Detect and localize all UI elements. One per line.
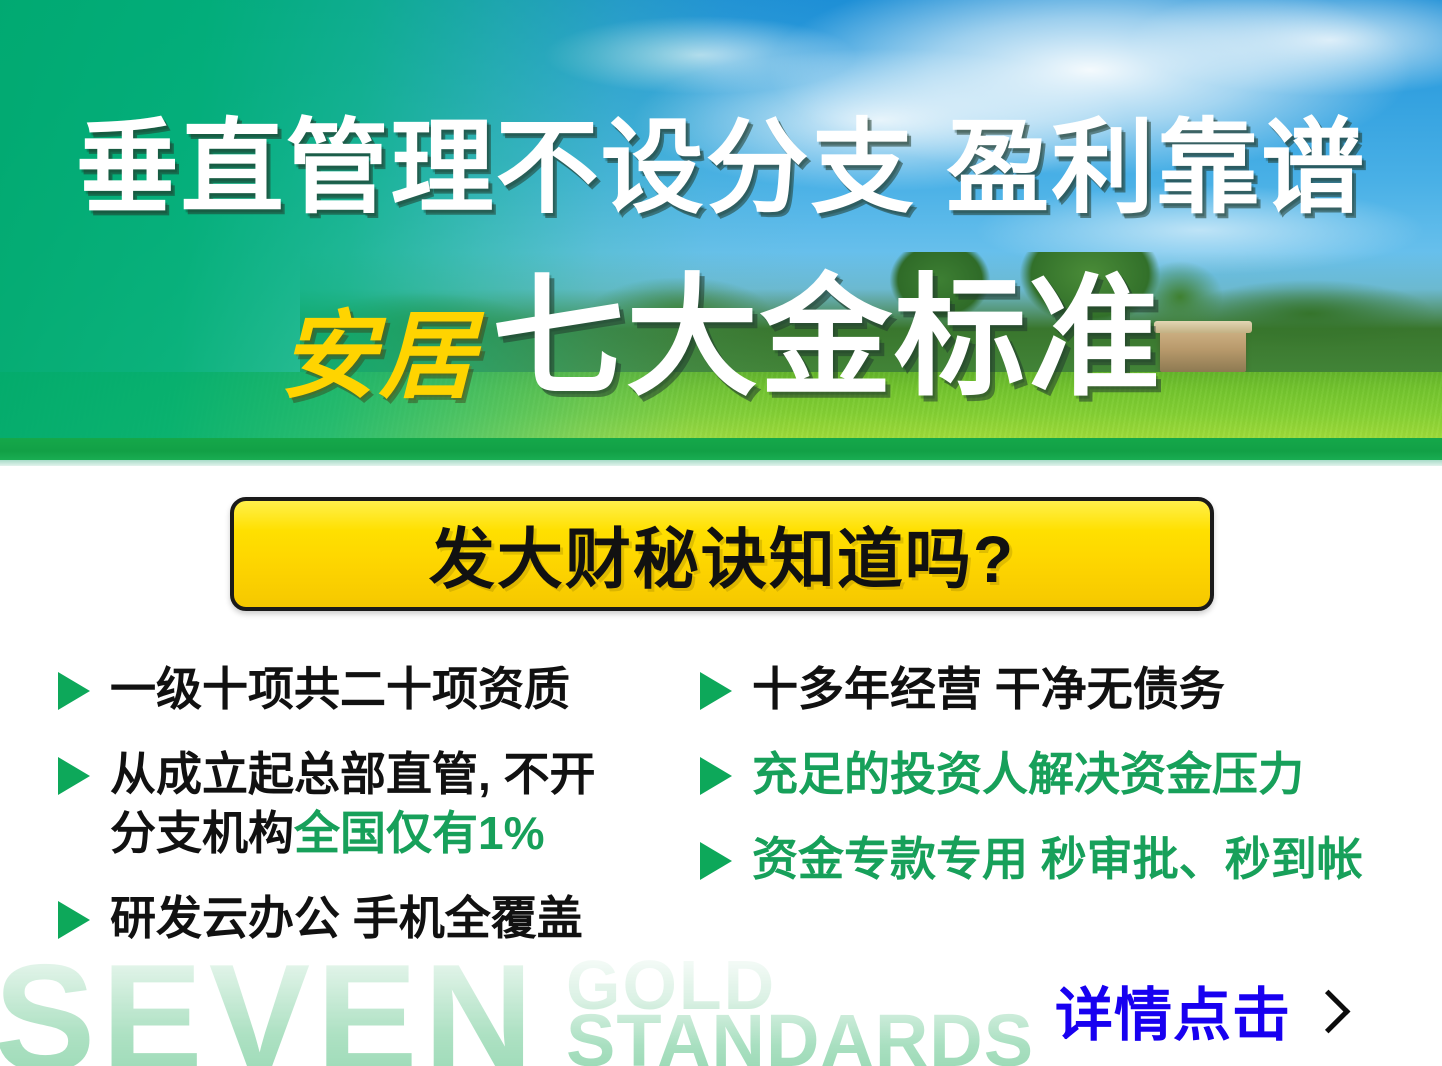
list-item: 资金专款专用 秒审批、秒到帐 [700, 830, 1400, 889]
list-item: 研发云办公 手机全覆盖 [58, 889, 698, 948]
feature-line-1: 从成立起总部直管, 不开 [110, 748, 596, 800]
hero-brand-label: 安居 [280, 278, 478, 417]
triangle-bullet-icon [58, 672, 90, 710]
highlight-banner[interactable]: 发大财秘诀知道吗? [230, 497, 1214, 611]
promo-poster: 垂直管理不设分支 盈利靠谱 安居七大金标准 发大财秘诀知道吗? 一级十项共二十项… [0, 0, 1442, 1066]
feature-line-2-highlight: 全国仅有1% [294, 807, 544, 859]
details-cta-label: 详情点击 [1055, 968, 1291, 1052]
list-item: 从成立起总部直管, 不开 分支机构全国仅有1% [58, 745, 698, 863]
green-divider-fade [0, 460, 1442, 466]
feature-label: 充足的投资人解决资金压力 [752, 745, 1304, 804]
feature-column-left: 一级十项共二十项资质 从成立起总部直管, 不开 分支机构全国仅有1% 研发云办公… [58, 660, 698, 974]
hero-headline: 垂直管理不设分支 盈利靠谱 [0, 116, 1442, 219]
feature-label: 研发云办公 手机全覆盖 [110, 889, 583, 948]
highlight-banner-label: 发大财秘诀知道吗? [429, 506, 1015, 602]
feature-label: 资金专款专用 秒审批、秒到帐 [752, 830, 1363, 889]
triangle-bullet-icon [700, 842, 732, 880]
watermark-standards-label: STANDARDS [566, 1004, 1034, 1066]
feature-label: 从成立起总部直管, 不开 分支机构全国仅有1% [110, 745, 596, 863]
feature-label: 一级十项共二十项资质 [110, 660, 570, 719]
green-divider-bar [0, 438, 1442, 460]
list-item: 一级十项共二十项资质 [58, 660, 698, 719]
hero-subline: 安居七大金标准 [0, 272, 1442, 417]
triangle-bullet-icon [700, 672, 732, 710]
triangle-bullet-icon [58, 901, 90, 939]
feature-label: 十多年经营 干净无债务 [752, 660, 1225, 719]
triangle-bullet-icon [700, 757, 732, 795]
feature-list: 一级十项共二十项资质 从成立起总部直管, 不开 分支机构全国仅有1% 研发云办公… [0, 660, 1442, 980]
feature-column-right: 十多年经营 干净无债务 充足的投资人解决资金压力 资金专款专用 秒审批、秒到帐 [700, 660, 1400, 915]
chevron-right-icon [1307, 989, 1351, 1033]
list-item: 充足的投资人解决资金压力 [700, 745, 1400, 804]
triangle-bullet-icon [58, 757, 90, 795]
hero-section: 垂直管理不设分支 盈利靠谱 安居七大金标准 [0, 0, 1442, 466]
details-cta-button[interactable]: 详情点击 [1055, 968, 1344, 1052]
feature-line-2-plain: 分支机构 [110, 807, 294, 859]
hero-subtitle-label: 七大金标准 [492, 272, 1162, 404]
list-item: 十多年经营 干净无债务 [700, 660, 1400, 719]
